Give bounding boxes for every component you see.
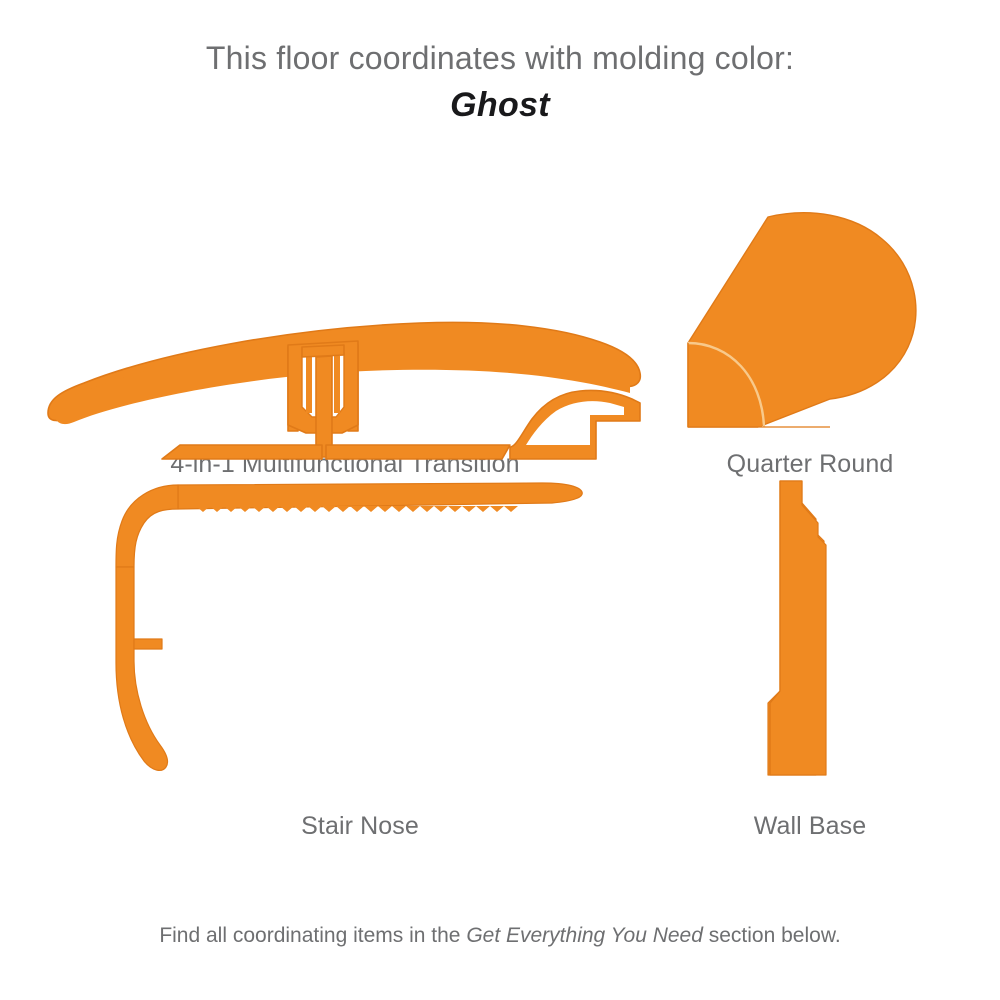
stair-nose-profile-icon	[100, 475, 620, 780]
wall-base-figure	[650, 475, 970, 780]
product-cell-wall-base[interactable]: Wall Base	[650, 475, 970, 841]
stair-nose-figure	[100, 475, 620, 780]
product-label-wall-base: Wall Base	[650, 812, 970, 841]
footer-emphasis: Get Everything You Need	[466, 924, 703, 947]
quarter-round-figure	[650, 195, 970, 440]
four-in-one-transition-profile-icon	[40, 195, 650, 440]
footer-suffix: section below.	[703, 924, 841, 947]
product-cell-quarter-round[interactable]: Quarter Round	[650, 195, 970, 479]
product-cell-stair-nose[interactable]: Stair Nose	[100, 475, 620, 841]
quarter-round-profile-icon	[650, 195, 970, 440]
page-header: This floor coordinates with molding colo…	[0, 38, 1000, 125]
product-cell-transition[interactable]: 4-in-1 Multifunctional Transition	[40, 195, 650, 479]
molding-color-name: Ghost	[0, 86, 1000, 125]
footer-note: Find all coordinating items in the Get E…	[0, 924, 1000, 948]
transition-figure	[40, 195, 650, 440]
product-grid: 4-in-1 Multifunctional Transition	[0, 175, 1000, 865]
product-label-stair-nose: Stair Nose	[100, 812, 620, 841]
page-title: This floor coordinates with molding colo…	[0, 38, 1000, 78]
wall-base-profile-icon	[650, 475, 970, 780]
footer-prefix: Find all coordinating items in the	[159, 924, 466, 947]
molding-coordination-panel: This floor coordinates with molding colo…	[0, 0, 1000, 1000]
